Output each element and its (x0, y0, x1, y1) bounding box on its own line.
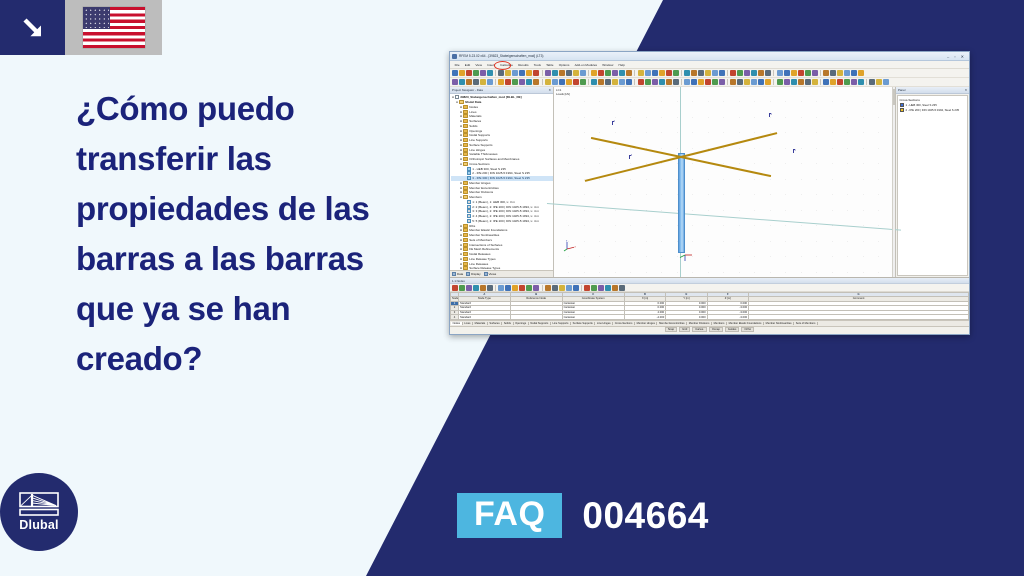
table-toolbar-button-icon[interactable] (598, 285, 604, 291)
navigator-header: Project Navigator - Data ✕ (450, 87, 553, 94)
toolbar-button-icon[interactable] (573, 79, 579, 85)
secondary-toolbar[interactable] (450, 78, 969, 87)
toolbar-button-icon[interactable] (559, 79, 565, 85)
toolbar-button-icon[interactable] (605, 70, 611, 76)
toolbar-button-icon[interactable] (765, 79, 771, 85)
toolbar-button-icon[interactable] (791, 79, 797, 85)
toolbar-button-icon[interactable] (552, 79, 558, 85)
toolbar-button-icon[interactable] (712, 79, 718, 85)
cross-section-label: 2 - IPE 200 | DIN 1025-5:1994, Steel S 2… (906, 108, 960, 112)
table-toolbar-button-icon[interactable] (619, 285, 625, 291)
tree-item-label: Member Eccentricities (469, 186, 499, 190)
toolbar-button-icon[interactable] (673, 70, 679, 76)
folder-icon (463, 224, 468, 228)
table-tab-solids[interactable]: Solids (502, 322, 513, 325)
toolbar-button-icon[interactable] (552, 70, 558, 76)
toolbar-button-icon[interactable] (652, 70, 658, 76)
table-tab-member-divisions[interactable]: Member Divisions (687, 322, 712, 325)
minimize-button[interactable]: – (947, 54, 949, 59)
folder-icon (463, 247, 468, 251)
table-cell-x[interactable]: -4.000 (624, 315, 665, 320)
table-toolbar-separator (495, 285, 496, 291)
folder-icon (463, 262, 468, 266)
toolbar-button-icon[interactable] (459, 79, 465, 85)
folder-icon (463, 152, 468, 156)
toolbar-button-icon[interactable] (744, 70, 750, 76)
table-toolbar-button-icon[interactable] (552, 285, 558, 291)
table-toolbar-button-icon[interactable] (487, 285, 493, 291)
table-tab-line-hinges[interactable]: Line Hinges (595, 322, 613, 325)
table-tab-lines[interactable]: Lines (463, 322, 473, 325)
folder-icon (463, 181, 468, 185)
table-toolbar-button-icon[interactable] (584, 285, 590, 291)
toolbar-button-icon[interactable] (698, 70, 704, 76)
tree-item-label: 2 - IPE 200 | DIN 1025-5:1994, Steel S 2… (472, 171, 529, 175)
toolbar-button-icon[interactable] (684, 70, 690, 76)
table-toolbar[interactable] (450, 284, 969, 292)
toolbar-button-icon[interactable] (705, 79, 711, 85)
toolbar-button-icon[interactable] (844, 79, 850, 85)
table-toolbar-button-icon[interactable] (545, 285, 551, 291)
toolbar-button-icon[interactable] (619, 79, 625, 85)
table-body: 1StandardCartesian0.0000.0000.0002Standa… (451, 301, 969, 319)
node-label: 3 (631, 154, 632, 157)
viewport-scrollbar-thumb[interactable] (893, 89, 896, 105)
toolbar-button-icon[interactable] (737, 70, 743, 76)
toolbar-button-icon[interactable] (487, 79, 493, 85)
table-cell-no[interactable]: 4 (451, 315, 459, 320)
toolbar-separator (681, 70, 682, 76)
toolbar-button-icon[interactable] (526, 79, 532, 85)
navigator-tab[interactable]: Data (452, 272, 463, 276)
toolbar-button-icon[interactable] (598, 70, 604, 76)
table-toolbar-separator (581, 285, 582, 291)
status-toggle-osnap[interactable]: Osnap (709, 327, 723, 332)
table-column-header[interactable]: Node No. (451, 297, 459, 302)
panel-legend[interactable]: Panel ✕ Cross-Sections 1 - HEB 300, Stee… (896, 87, 969, 277)
toolbar-button-icon[interactable] (684, 79, 690, 85)
tree-item-label: Nodal Supports (469, 133, 490, 137)
tree-item-label: FE Mesh Refinements (469, 247, 499, 251)
table-toolbar-button-icon[interactable] (559, 285, 565, 291)
table-tab-materials[interactable]: Materials (473, 322, 488, 325)
project-navigator-panel[interactable]: Project Navigator - Data ✕ ⊟39823_Stabei… (450, 87, 554, 277)
tree-item-label: Model Data (465, 100, 481, 104)
toolbar-button-icon[interactable] (805, 79, 811, 85)
toolbar-button-icon[interactable] (666, 79, 672, 85)
table-tab-members[interactable]: Members (712, 322, 727, 325)
toolbar-separator (681, 79, 682, 85)
toolbar-button-icon[interactable] (784, 70, 790, 76)
cross-section-legend-item[interactable]: 2 - IPE 200 | DIN 1025-5:1994, Steel S 2… (900, 108, 966, 112)
toolbar-button-icon[interactable] (591, 70, 597, 76)
table-toolbar-button-icon[interactable] (566, 285, 572, 291)
tree-item-label: Nodal Releases (469, 252, 490, 256)
tree-item-label: Line Supports (469, 138, 488, 142)
tree-item-label: Cross-Sections (469, 162, 489, 166)
toolbar-button-icon[interactable] (573, 70, 579, 76)
toolbar-button-icon[interactable] (580, 70, 586, 76)
toolbar-separator (588, 79, 589, 85)
toolbar-button-icon[interactable] (612, 79, 618, 85)
navigator-tabs[interactable]: DataDisplayViews (450, 270, 553, 277)
status-toggle-ortho[interactable]: Ortho (741, 327, 754, 332)
folder-icon (463, 190, 468, 194)
toolbar-button-icon[interactable] (823, 79, 829, 85)
toolbar-button-icon[interactable] (645, 70, 651, 76)
folder-icon (463, 129, 468, 133)
tree-item-label: Member Nonlinearities (469, 233, 499, 237)
toolbar-separator (773, 70, 774, 76)
toolbar-button-icon[interactable] (638, 79, 644, 85)
panel-close-icon[interactable]: ✕ (965, 88, 969, 92)
toolbar-button-icon[interactable] (851, 79, 857, 85)
toolbar-button-icon[interactable] (798, 79, 804, 85)
member-icon (467, 219, 471, 223)
table-toolbar-button-icon[interactable] (573, 285, 579, 291)
toolbar-button-icon[interactable] (559, 70, 565, 76)
window-title-bar: RFEM 5.23.02 x64 - [39823_Stabeigenschaf… (450, 52, 969, 61)
table-tab-member-elastic-foundations[interactable]: Member Elastic Foundations (727, 322, 764, 325)
folder-icon (463, 195, 468, 199)
toolbar-button-icon[interactable] (730, 70, 736, 76)
table-cell-y[interactable]: 0.000 (666, 315, 707, 320)
toolbar-separator (727, 70, 728, 76)
menu-item-options[interactable]: Options (556, 63, 572, 67)
toolbar-separator (773, 79, 774, 85)
toolbar-button-icon[interactable] (459, 70, 465, 76)
toolbar-separator (820, 70, 821, 76)
folder-icon (463, 243, 468, 247)
toolbar-button-icon[interactable] (698, 79, 704, 85)
toolbar-button-icon[interactable] (519, 70, 525, 76)
toolbar-button-icon[interactable] (605, 79, 611, 85)
nodes-table[interactable]: ABCDEFG Node No.Node TypeReference NodeC… (450, 292, 969, 320)
toolbar-button-icon[interactable] (673, 79, 679, 85)
tree-item-label: Sets of Members (469, 238, 492, 242)
toolbar-button-icon[interactable] (705, 70, 711, 76)
toolbar-button-icon[interactable] (858, 70, 864, 76)
arrow-down-right-icon (0, 0, 65, 55)
table-toolbar-button-icon[interactable] (473, 285, 479, 291)
toolbar-button-icon[interactable] (812, 79, 818, 85)
cross-section-legend-item[interactable]: 1 - HEB 300, Steel S 235 (900, 103, 966, 107)
toolbar-button-icon[interactable] (876, 79, 882, 85)
toolbar-button-icon[interactable] (851, 70, 857, 76)
menu-item-file[interactable]: File (452, 63, 462, 67)
toolbar-button-icon[interactable] (691, 70, 697, 76)
coordinate-axes-icon: x z (563, 239, 579, 253)
table-toolbar-button-icon[interactable] (519, 285, 525, 291)
table-cell-cs[interactable]: Cartesian (562, 315, 624, 320)
toolbar-separator (588, 70, 589, 76)
viewport-scrollbar[interactable] (892, 87, 896, 277)
tree-item-label: Members (469, 195, 482, 199)
toolbar-button-icon[interactable] (619, 70, 625, 76)
table-toolbar-button-icon[interactable] (498, 285, 504, 291)
app-icon (452, 54, 457, 59)
toolbar-button-icon[interactable] (652, 79, 658, 85)
toolbar-button-icon[interactable] (466, 79, 472, 85)
toolbar-button-icon[interactable] (526, 70, 532, 76)
toolbar-button-icon[interactable] (837, 79, 843, 85)
faq-footer: FAQ 004664 (457, 493, 709, 538)
toolbar-button-icon[interactable] (452, 79, 458, 85)
toolbar-button-icon[interactable] (580, 79, 586, 85)
toolbar-button-icon[interactable] (498, 70, 504, 76)
panel-header: Panel ✕ (896, 87, 969, 94)
table-toolbar-button-icon[interactable] (466, 285, 472, 291)
toolbar-button-icon[interactable] (505, 70, 511, 76)
tree-item-label: Line Releases (469, 262, 488, 266)
cross-sections-list[interactable]: 1 - HEB 300, Steel S 2352 - IPE 200 | DI… (900, 103, 966, 112)
table-cell-ref[interactable] (510, 315, 562, 320)
toolbar-button-icon[interactable] (473, 70, 479, 76)
toolbar-button-icon[interactable] (830, 70, 836, 76)
table-tab-surfaces[interactable]: Surfaces (488, 322, 502, 325)
main-toolbar[interactable] (450, 69, 969, 78)
dlubal-wordmark: Dlubal (19, 518, 58, 532)
folder-icon (463, 138, 468, 142)
table-tab-member-nonlinearities[interactable]: Member Nonlinearities (764, 322, 794, 325)
menu-item-window[interactable]: Window (600, 63, 616, 67)
toolbar-button-icon[interactable] (591, 79, 597, 85)
table-row[interactable]: 4StandardCartesian-4.0000.000-3.000 (451, 315, 969, 320)
table-toolbar-separator (542, 285, 543, 291)
navigator-tab[interactable]: Views (484, 272, 497, 276)
tree-item-label: Member Divisions (469, 190, 493, 194)
toolbar-button-icon[interactable] (645, 79, 651, 85)
window-controls[interactable]: – ▫ ✕ (947, 54, 967, 59)
toolbar-button-icon[interactable] (730, 79, 736, 85)
workspace: Project Navigator - Data ✕ ⊟39823_Stabei… (450, 87, 969, 277)
toolbar-button-icon[interactable] (751, 70, 757, 76)
member-icon (467, 209, 471, 213)
toolbar-button-icon[interactable] (545, 79, 551, 85)
status-toggle-cartes-[interactable]: Cartes. (692, 327, 707, 332)
menu-item-help[interactable]: Help (616, 63, 628, 67)
toolbar-button-icon[interactable] (791, 70, 797, 76)
toolbar-separator (866, 79, 867, 85)
navigator-tab-icon (466, 272, 470, 276)
toolbar-button-icon[interactable] (512, 70, 518, 76)
tree-item-label: Surface Supports (469, 143, 492, 147)
toolbar-button-icon[interactable] (858, 79, 864, 85)
model-column-member[interactable] (678, 153, 685, 254)
tree-item-label: Surfaces (469, 119, 481, 123)
table-cell-z[interactable]: -3.000 (707, 315, 748, 320)
dlubal-logo: Dlubal (0, 473, 78, 551)
origin-axes-icon (679, 251, 695, 263)
tree-item-label: 1 - HEB 300, Steel S 235 (472, 167, 506, 171)
folder-icon (463, 186, 468, 190)
folder-icon (463, 228, 468, 232)
toolbar-separator (634, 79, 635, 85)
toolbar-button-icon[interactable] (830, 79, 836, 85)
table-title: 1.1 Nodes (452, 279, 465, 283)
svg-text:z: z (566, 239, 568, 242)
toolbar-button-icon[interactable] (777, 79, 783, 85)
table-tab-surface-supports[interactable]: Surface Supports (571, 322, 595, 325)
folder-icon (463, 110, 468, 114)
toolbar-button-icon[interactable] (812, 70, 818, 76)
table-tab-cross-sections[interactable]: Cross-Sections (613, 322, 635, 325)
toolbar-button-icon[interactable] (519, 79, 525, 85)
status-toggle-grid[interactable]: Grid (679, 327, 690, 332)
table-toolbar-button-icon[interactable] (533, 285, 539, 291)
table-tab-member-eccentricities[interactable]: Member Eccentricities (657, 322, 687, 325)
toolbar-button-icon[interactable] (719, 70, 725, 76)
toolbar-button-icon[interactable] (452, 70, 458, 76)
table-tab-openings[interactable]: Openings (514, 322, 529, 325)
flag-stars (84, 8, 109, 28)
table-tab-nodes[interactable]: Nodes (451, 322, 463, 325)
toolbar-button-icon[interactable] (505, 79, 511, 85)
viewport-grid-dots (554, 87, 895, 277)
navigator-close-icon[interactable]: ✕ (548, 88, 553, 92)
toolbar-button-icon[interactable] (666, 70, 672, 76)
tree-item-label: 5: 5 (Beam), 2: IPE 200 | DIN 1025-5:199… (472, 219, 539, 223)
menu-bar[interactable]: FileEditViewInsertCalculateResultsToolsT… (450, 61, 969, 69)
table-toolbar-button-icon[interactable] (452, 285, 458, 291)
toolbar-button-icon[interactable] (823, 70, 829, 76)
status-toggle-snap[interactable]: Snap (665, 327, 677, 332)
table-toolbar-button-icon[interactable] (505, 285, 511, 291)
data-table-panel[interactable]: 1.1 Nodes ABCDEFG Node No.Node TypeRefer… (450, 277, 969, 326)
table-toolbar-button-icon[interactable] (480, 285, 486, 291)
menu-item-add-on-modules[interactable]: Add-on Modules (572, 63, 600, 67)
toolbar-button-icon[interactable] (869, 79, 875, 85)
menu-item-edit[interactable]: Edit (462, 63, 473, 67)
menu-item-tools[interactable]: Tools (531, 63, 543, 67)
cross-section-color-swatch (900, 108, 905, 112)
toolbar-button-icon[interactable] (512, 79, 518, 85)
cross-section-icon (467, 171, 471, 175)
folder-icon (463, 148, 468, 152)
svg-text:x: x (574, 246, 576, 249)
toolbar-separator (634, 70, 635, 76)
toolbar-button-icon[interactable] (626, 79, 632, 85)
toolbar-button-icon[interactable] (545, 70, 551, 76)
toolbar-button-icon[interactable] (533, 79, 539, 85)
toolbar-button-icon[interactable] (659, 79, 665, 85)
toolbar-button-icon[interactable] (612, 70, 618, 76)
cross-section-icon (467, 167, 471, 171)
toolbar-button-icon[interactable] (883, 79, 889, 85)
navigator-tab-label: Display (471, 272, 480, 276)
tree-item-label: Solids (469, 124, 477, 128)
toolbar-button-icon[interactable] (566, 70, 572, 76)
flag-graphic (83, 7, 145, 48)
toolbar-button-icon[interactable] (784, 79, 790, 85)
toolbar-separator (542, 70, 543, 76)
toolbar-button-icon[interactable] (487, 70, 493, 76)
tree-item-label: Orthotropic Surfaces and Membranes (469, 157, 519, 161)
folder-icon (463, 119, 468, 123)
folder-icon (463, 162, 468, 166)
toolbar-button-icon[interactable] (498, 79, 504, 85)
tree-item-label: Member Elastic Foundations (469, 228, 507, 232)
status-toggle-guides[interactable]: Guides (725, 327, 740, 332)
table-tab-member-hinges[interactable]: Member Hinges (635, 322, 658, 325)
toolbar-button-icon[interactable] (765, 70, 771, 76)
table-toolbar-button-icon[interactable] (512, 285, 518, 291)
table-tab-line-supports[interactable]: Line Supports (551, 322, 571, 325)
toolbar-button-icon[interactable] (659, 70, 665, 76)
toolbar-button-icon[interactable] (473, 79, 479, 85)
toolbar-button-icon[interactable] (758, 70, 764, 76)
folder-icon (463, 133, 468, 137)
toolbar-button-icon[interactable] (466, 70, 472, 76)
toolbar-button-icon[interactable] (566, 79, 572, 85)
table-cell-type[interactable]: Standard (459, 315, 511, 320)
toolbar-button-icon[interactable] (691, 79, 697, 85)
table-toolbar-button-icon[interactable] (612, 285, 618, 291)
toolbar-button-icon[interactable] (480, 79, 486, 85)
table-cell-comment[interactable] (749, 315, 969, 320)
toolbar-button-icon[interactable] (837, 70, 843, 76)
rfem-application-window[interactable]: RFEM 5.23.02 x64 - [39823_Stabeigenschaf… (449, 51, 970, 335)
node-label: 5 (794, 149, 795, 152)
tree-item-label: Ribs (469, 224, 475, 228)
toolbar-button-icon[interactable] (777, 70, 783, 76)
toolbar-button-icon[interactable] (798, 70, 804, 76)
model-file-icon (455, 95, 459, 99)
status-bar[interactable]: SnapGridCartes.OsnapGuidesOrtho (450, 326, 969, 333)
menu-item-view[interactable]: View (473, 63, 485, 67)
toolbar-button-icon[interactable] (719, 79, 725, 85)
toolbar-separator (820, 79, 821, 85)
toolbar-button-icon[interactable] (638, 70, 644, 76)
menu-item-results[interactable]: Results (516, 63, 532, 67)
toolbar-button-icon[interactable] (758, 79, 764, 85)
tree-item[interactable]: 2: 2 (Beam), 2: IPE 200 | DIN 1025-5:199… (451, 204, 553, 209)
toolbar-button-icon[interactable] (533, 70, 539, 76)
close-button[interactable]: ✕ (961, 54, 964, 59)
toolbar-button-icon[interactable] (744, 79, 750, 85)
tree-item[interactable]: 5: 5 (Beam), 2: IPE 200 | DIN 1025-5:199… (451, 219, 553, 224)
folder-icon (463, 157, 468, 161)
toolbar-button-icon[interactable] (751, 79, 757, 85)
window-title: RFEM 5.23.02 x64 - [39823_Stabeigenschaf… (459, 54, 543, 58)
toolbar-button-icon[interactable] (480, 70, 486, 76)
navigator-tab[interactable]: Display (466, 272, 480, 276)
table-toolbar-button-icon[interactable] (591, 285, 597, 291)
table-tab-sets-of-members[interactable]: Sets of Members (794, 322, 818, 325)
menu-item-table[interactable]: Table (544, 63, 557, 67)
table-toolbar-button-icon[interactable] (605, 285, 611, 291)
toolbar-button-icon[interactable] (598, 79, 604, 85)
toolbar-button-icon[interactable] (805, 70, 811, 76)
table-tab-nodal-supports[interactable]: Nodal Supports (529, 322, 551, 325)
navigator-tree[interactable]: ⊟39823_Stabeigenschaften_mod [DLBL_DE]⊟M… (450, 94, 553, 270)
toolbar-button-icon[interactable] (626, 70, 632, 76)
tree-item[interactable]: 4: 4 (Beam), 2: IPE 200 | DIN 1025-5:199… (451, 214, 553, 219)
toolbar-separator (495, 79, 496, 85)
model-viewport[interactable]: 2 4 3 5 LC1 Loads [kN] x z (554, 87, 896, 277)
maximize-button[interactable]: ▫ (954, 54, 955, 59)
tree-item-label: 1: 1 (Beam), 1: HEB 300, L: 3 m (472, 200, 515, 204)
table-toolbar-button-icon[interactable] (526, 285, 532, 291)
toolbar-button-icon[interactable] (844, 70, 850, 76)
toolbar-button-icon[interactable] (712, 70, 718, 76)
table-toolbar-button-icon[interactable] (459, 285, 465, 291)
tree-item[interactable]: 3: 3 (Beam), 2: IPE 200 | DIN 1025-5:199… (451, 209, 553, 214)
toolbar-button-icon[interactable] (737, 79, 743, 85)
tree-item-label: Nodes (469, 105, 478, 109)
dlubal-truss-icon (19, 492, 59, 516)
tree-item-label: Member Hinges (469, 181, 490, 185)
